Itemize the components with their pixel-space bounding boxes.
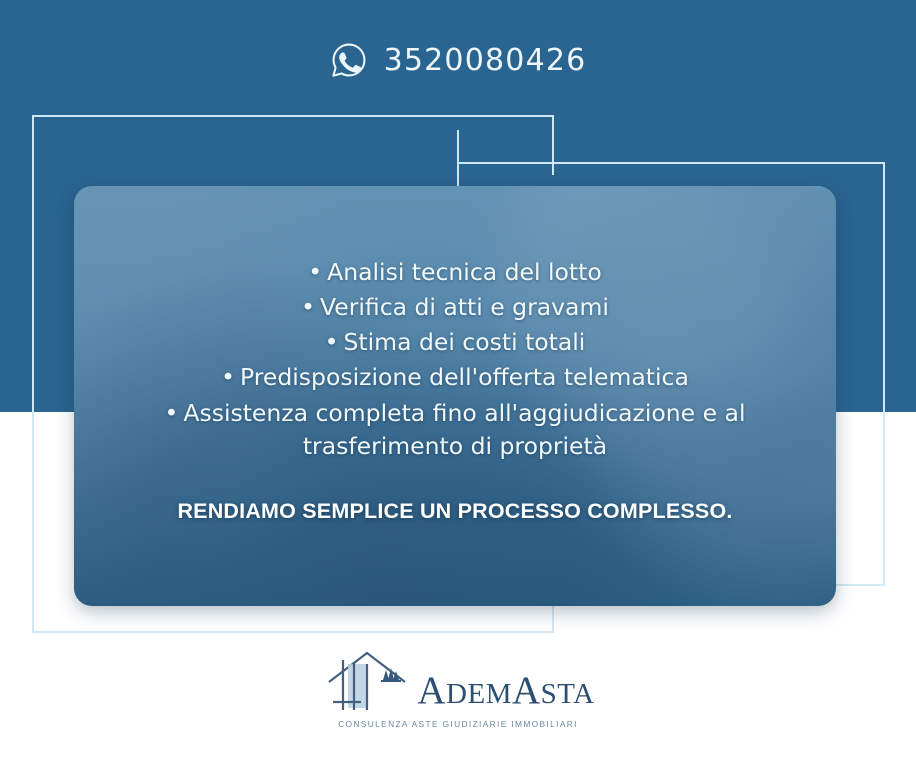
poster-canvas: 3520080426 •Analisi tecnica del lotto •V…	[0, 0, 916, 768]
phone-number[interactable]: 3520080426	[384, 43, 587, 78]
decorative-frame-left-cap-top	[552, 115, 554, 175]
list-item: •Analisi tecnica del lotto	[114, 256, 796, 289]
bullet-icon: •	[165, 399, 179, 427]
list-item-label: Stima dei costi totali	[344, 328, 586, 356]
decorative-frame-right-cap	[457, 130, 459, 190]
bullet-icon: •	[325, 328, 339, 356]
logo-word-dem: DEM	[446, 678, 512, 710]
list-item-label: Assistenza completa fino all'aggiudicazi…	[183, 399, 745, 460]
list-item: •Stima dei costi totali	[114, 326, 796, 359]
list-item-label: Analisi tecnica del lotto	[327, 258, 602, 286]
list-item: •Assistenza completa fino all'aggiudicaz…	[114, 397, 796, 463]
logo-word-a1: A	[417, 669, 446, 712]
logo-row: ADEMASTA	[321, 648, 594, 714]
brand-logo: ADEMASTA CONSULENZA ASTE GIUDIZIARIE IMM…	[0, 648, 916, 752]
list-item-label: Verifica di atti e gravami	[320, 293, 609, 321]
decorative-frame-left-top	[32, 115, 554, 117]
logo-wordmark: ADEMASTA	[417, 671, 594, 710]
bullet-icon: •	[308, 258, 322, 286]
content-card: •Analisi tecnica del lotto •Verifica di …	[74, 186, 836, 606]
list-item: •Predisposizione dell'offerta telematica	[114, 361, 796, 394]
services-list: •Analisi tecnica del lotto •Verifica di …	[114, 256, 796, 465]
logo-word-sta: STA	[541, 678, 595, 710]
bullet-icon: •	[221, 363, 235, 391]
logo-subtitle: CONSULENZA ASTE GIUDIZIARIE IMMOBILIARI	[338, 719, 578, 729]
house-logo-icon	[321, 648, 413, 714]
bullet-icon: •	[301, 293, 315, 321]
tagline: RENDIAMO SEMPLICE UN PROCESSO COMPLESSO.	[177, 499, 732, 524]
contact-header: 3520080426	[0, 34, 916, 86]
list-item-label: Predisposizione dell'offerta telematica	[240, 363, 689, 391]
whatsapp-icon[interactable]	[330, 41, 368, 79]
logo-word-a2: A	[512, 669, 541, 712]
card-content: •Analisi tecnica del lotto •Verifica di …	[74, 186, 836, 606]
list-item: •Verifica di atti e gravami	[114, 291, 796, 324]
